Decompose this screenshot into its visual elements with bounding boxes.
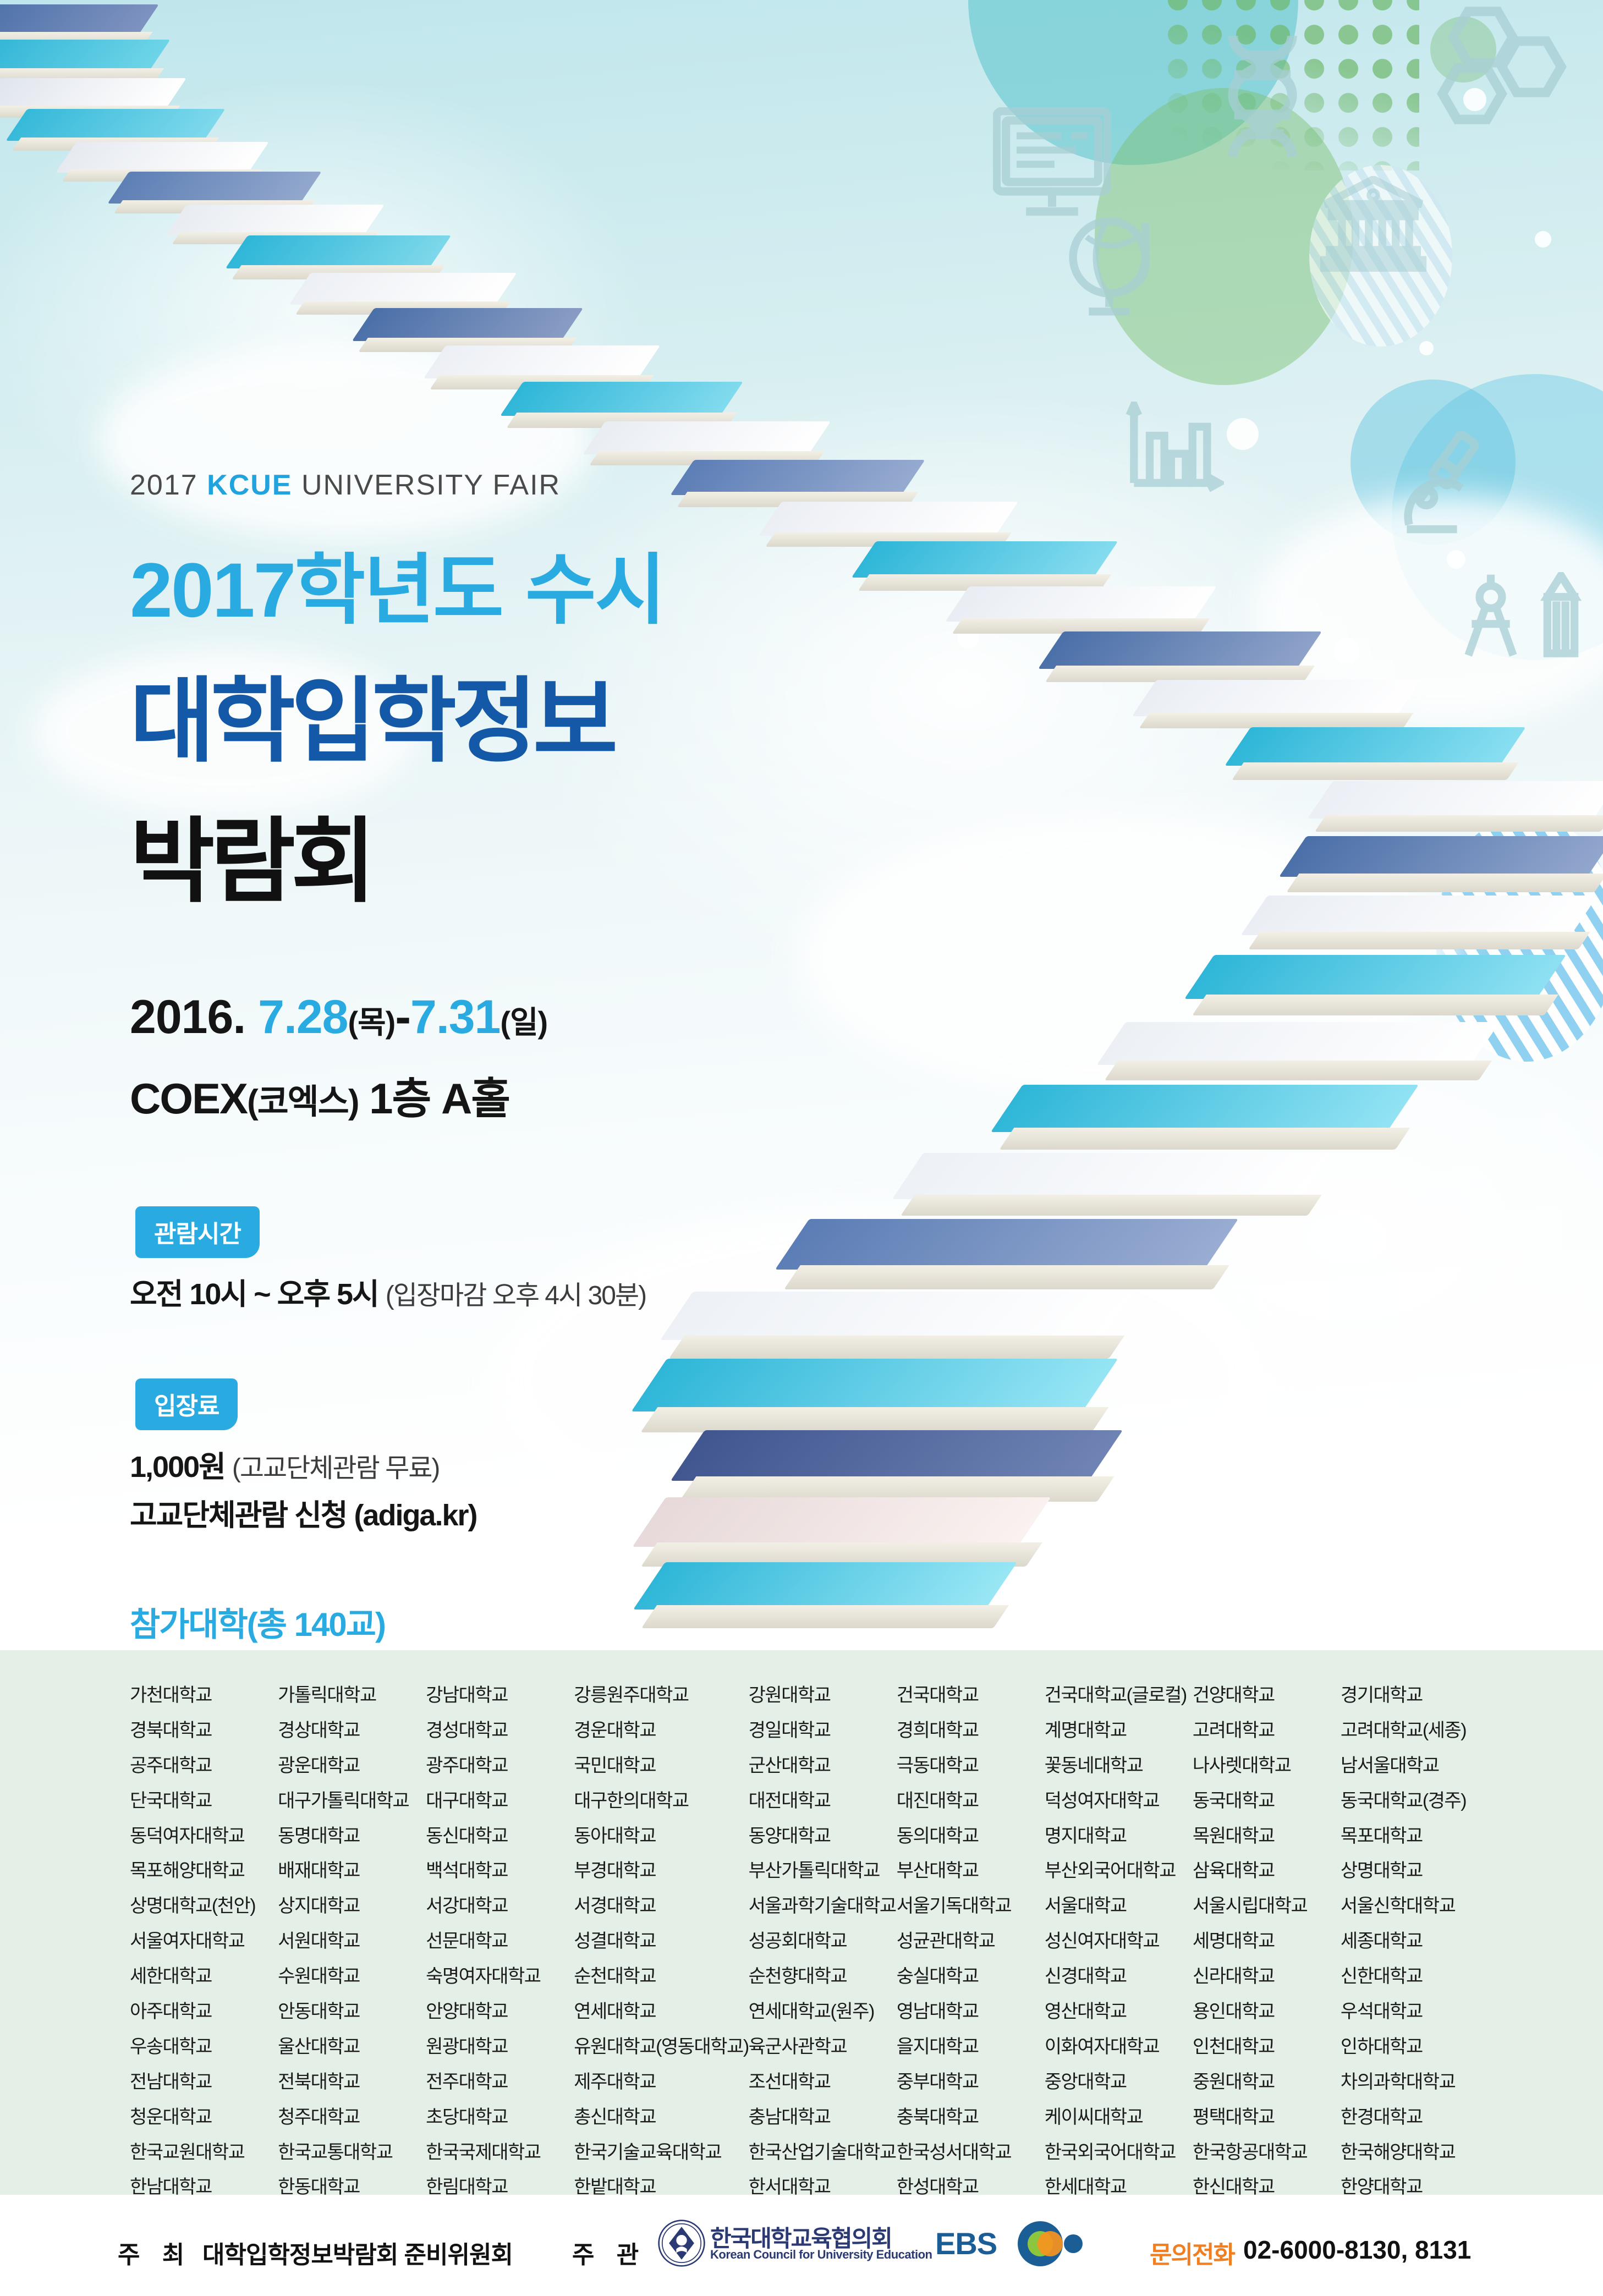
book-step <box>176 205 374 235</box>
university-name: 나사렛대학교 <box>1193 1754 1341 1779</box>
bubble-dot <box>1227 418 1259 450</box>
university-name: 광운대학교 <box>278 1754 426 1779</box>
university-name: 한국국제대학교 <box>426 2140 574 2166</box>
book-step <box>1051 631 1309 669</box>
university-name: 한국교원대학교 <box>130 2140 278 2166</box>
title-line-2: 대학입학정보 <box>130 646 613 780</box>
university-name: 인하대학교 <box>1341 2035 1489 2060</box>
university-name: 세명대학교 <box>1193 1929 1341 1954</box>
university-name: 서경대학교 <box>574 1894 748 1919</box>
ebs-circle-dot <box>1064 2234 1083 2253</box>
hours-badge: 관람시간 <box>135 1206 260 1258</box>
university-name: 제주대학교 <box>574 2070 748 2095</box>
university-name: 건국대학교 <box>897 1683 1045 1709</box>
book-step <box>594 421 820 454</box>
book-step <box>66 142 259 173</box>
book-step <box>1144 680 1408 716</box>
university-name: 중부대학교 <box>897 2070 1045 2095</box>
university-name: 우석대학교 <box>1341 2000 1489 2025</box>
university-name: 명지대학교 <box>1045 1824 1193 1849</box>
dna-icon <box>1207 33 1317 160</box>
hours-main: 오전 10시 ~ 오후 5시 <box>130 1278 378 1311</box>
university-name: 성결대학교 <box>574 1929 748 1954</box>
university-name: 원광대학교 <box>426 2035 574 2060</box>
book-step <box>435 345 649 378</box>
university-name: 안동대학교 <box>278 2000 426 2025</box>
book-step <box>957 586 1205 622</box>
university-name: 연세대학교(원주) <box>749 2000 897 2025</box>
university-name: 세종대학교 <box>1341 1929 1489 1954</box>
title-susi: 수시 <box>525 547 665 633</box>
venue-name: COEX <box>130 1074 247 1123</box>
university-name: 경기대학교 <box>1341 1683 1489 1709</box>
university-name: 동아대학교 <box>574 1824 748 1849</box>
university-name: 서울기독대학교 <box>897 1894 1045 1919</box>
date-start-day: (목) <box>348 1005 396 1040</box>
globe-icon <box>1062 212 1163 316</box>
university-name: 단국대학교 <box>130 1789 278 1814</box>
book-step <box>649 1359 1100 1411</box>
university-name: 한국항공대학교 <box>1193 2140 1341 2166</box>
book-step <box>770 502 1007 536</box>
fee-main: 1,000원 <box>130 1451 225 1484</box>
university-name: 신한대학교 <box>1341 1964 1489 1990</box>
university-name: 덕성여자대학교 <box>1045 1789 1193 1814</box>
eyebrow-tagline: 2017 KCUE UNIVERSITY FAIR <box>130 469 561 502</box>
date-dash: - <box>395 991 410 1043</box>
university-name: 한국성서대학교 <box>897 2140 1045 2166</box>
university-name: 한국외국어대학교 <box>1045 2140 1193 2166</box>
university-name: 숙명여자대학교 <box>426 1964 574 1990</box>
ebs-circle-orange <box>1037 2231 1063 2256</box>
date-start: 7.28 <box>258 991 348 1043</box>
university-name: 고려대학교(세종) <box>1341 1718 1489 1744</box>
book-step <box>1320 781 1603 819</box>
university-name: 동의대학교 <box>897 1824 1045 1849</box>
university-name: 세한대학교 <box>130 1964 278 1990</box>
university-name: 영산대학교 <box>1045 2000 1193 2025</box>
university-name: 공주대학교 <box>130 1754 278 1779</box>
eyebrow-year: 2017 <box>130 469 198 501</box>
university-name: 을지대학교 <box>897 2035 1045 2060</box>
university-name: 총신대학교 <box>574 2105 748 2130</box>
kcue-emblem-icon <box>657 2219 706 2267</box>
book-step <box>649 1562 1001 1610</box>
university-name: 선문대학교 <box>426 1929 574 1954</box>
university-name: 광주대학교 <box>426 1754 574 1779</box>
university-name: 숭실대학교 <box>897 1964 1045 1990</box>
university-name: 순천대학교 <box>574 1964 748 1990</box>
university-name: 인천대학교 <box>1193 2035 1341 2060</box>
university-name: 경일대학교 <box>749 1718 897 1744</box>
university-name: 청주대학교 <box>278 2105 426 2130</box>
university-name: 우송대학교 <box>130 2035 278 2060</box>
fee-value: 1,000원 (고교단체관람 무료) <box>130 1442 439 1486</box>
university-name: 초당대학교 <box>426 2105 574 2130</box>
university-name: 영남대학교 <box>897 2000 1045 2025</box>
eyebrow-rest: UNIVERSITY FAIR <box>301 469 561 501</box>
bank-icon <box>1320 176 1428 272</box>
university-name: 꽃동네대학교 <box>1045 1754 1193 1779</box>
university-name: 연세대학교 <box>574 2000 748 2025</box>
book-step <box>17 109 215 141</box>
university-name: 목원대학교 <box>1193 1824 1341 1849</box>
molecule-icon <box>1428 0 1576 143</box>
university-name: 삼육대학교 <box>1193 1859 1341 1884</box>
university-name: 부경대학교 <box>574 1859 748 1884</box>
host-label: 주 최 <box>118 2235 192 2270</box>
university-name: 남서울대학교 <box>1341 1754 1489 1779</box>
university-name: 서원대학교 <box>278 1929 426 1954</box>
university-name: 부산외국어대학교 <box>1045 1859 1193 1884</box>
university-name: 대진대학교 <box>897 1789 1045 1814</box>
book-step <box>1254 896 1584 935</box>
title-line-1: 2017학년도수시 <box>130 528 665 639</box>
bubble-dot <box>1419 341 1434 355</box>
book-step <box>0 40 160 72</box>
compass-icon <box>1461 572 1521 660</box>
university-name: 대구한의대학교 <box>574 1789 748 1814</box>
university-name: 경희대학교 <box>897 1718 1045 1744</box>
university-name: 신경대학교 <box>1045 1964 1193 1990</box>
organizer-label: 주 관 <box>572 2235 646 2270</box>
book-step <box>677 1292 1117 1340</box>
book-step <box>300 273 506 305</box>
book-step <box>0 4 149 35</box>
university-name: 차의과학대학교 <box>1341 2070 1489 2095</box>
university-name: 한국산업기술대학교 <box>749 2140 897 2166</box>
university-name: 동양대학교 <box>749 1824 897 1849</box>
book-step <box>118 172 311 204</box>
book-step <box>1238 727 1513 766</box>
bubble-dot <box>1535 231 1551 248</box>
university-name: 아주대학교 <box>130 2000 278 2025</box>
university-name: 동신대학교 <box>426 1824 574 1849</box>
university-name: 성공회대학교 <box>749 1929 897 1954</box>
book-step <box>512 382 732 416</box>
university-name: 부산가톨릭대학교 <box>749 1859 897 1884</box>
kcue-name-en: Korean Council for University Education <box>710 2248 932 2262</box>
university-name: 경북대학교 <box>130 1718 278 1744</box>
university-name: 한국기술교육대학교 <box>574 2140 748 2166</box>
eyebrow-brand: KCUE <box>207 469 292 501</box>
book-step <box>1293 836 1601 877</box>
book-step <box>237 235 440 268</box>
university-name: 안양대학교 <box>426 2000 574 2025</box>
hours-value: 오전 10시 ~ 오후 5시 (입장마감 오후 4시 30분) <box>130 1270 646 1313</box>
university-name: 충북대학교 <box>897 2105 1045 2130</box>
university-name: 계명대학교 <box>1045 1718 1193 1744</box>
title-schoolyear: 학년도 <box>294 547 502 633</box>
university-name: 상명대학교(천안) <box>130 1894 278 1919</box>
university-name: 동명대학교 <box>278 1824 426 1849</box>
university-name: 중원대학교 <box>1193 2070 1341 2095</box>
university-name: 경성대학교 <box>426 1718 574 1744</box>
university-name: 수원대학교 <box>278 1964 426 1990</box>
university-name: 동덕여자대학교 <box>130 1824 278 1849</box>
university-name: 군산대학교 <box>749 1754 897 1779</box>
universities-panel: 가천대학교가톨릭대학교강남대학교강릉원주대학교강원대학교건국대학교건국대학교(글… <box>0 1650 1603 2195</box>
fee-note: (고교단체관람 무료) <box>232 1454 440 1483</box>
book-step <box>363 308 572 341</box>
date-year: 2016. <box>130 991 245 1043</box>
university-name: 육군사관학교 <box>749 2035 897 2060</box>
fee-badge: 입장료 <box>135 1378 238 1430</box>
university-name: 목포해양대학교 <box>130 1859 278 1884</box>
university-name: 상명대학교 <box>1341 1859 1489 1884</box>
venue-hall: 1층 A홀 <box>369 1074 509 1123</box>
university-name: 서울여자대학교 <box>130 1929 278 1954</box>
contact-number: 02-6000-8130, 8131 <box>1243 2235 1471 2265</box>
poster-root: 2017 KCUE UNIVERSITY FAIR 2017학년도수시 대학입학… <box>0 0 1603 2296</box>
university-name: 가톨릭대학교 <box>278 1683 426 1709</box>
book-step <box>908 1153 1315 1199</box>
microscope-icon <box>1386 426 1494 536</box>
university-name: 전주대학교 <box>426 2070 574 2095</box>
ebs-wordmark: EBS <box>935 2226 997 2261</box>
pencil-icon <box>1540 572 1582 660</box>
university-name: 동국대학교 <box>1193 1789 1341 1814</box>
kcue-logo: 한국대학교육협의회 Korean Council for University … <box>657 2218 888 2268</box>
university-name: 상지대학교 <box>278 1894 426 1919</box>
university-name: 고려대학교 <box>1193 1718 1341 1744</box>
university-name: 조선대학교 <box>749 2070 897 2095</box>
title-line-3: 박람회 <box>130 787 372 920</box>
university-name: 대구대학교 <box>426 1789 574 1814</box>
bar-chart-icon <box>1125 402 1224 492</box>
book-step <box>688 1430 1106 1481</box>
university-name: 대구가톨릭대학교 <box>278 1789 426 1814</box>
university-name: 유원대학교(영동대학교) <box>574 2035 748 2060</box>
university-name: 충남대학교 <box>749 2105 897 2130</box>
book-step <box>864 541 1106 578</box>
participating-universities-heading: 참가대학(총 140교) <box>130 1598 385 1646</box>
university-name: 서강대학교 <box>426 1894 574 1919</box>
university-name: 순천향대학교 <box>749 1964 897 1990</box>
university-name: 이화여자대학교 <box>1045 2035 1193 2060</box>
university-name: 용인대학교 <box>1193 2000 1341 2025</box>
university-name: 부산대학교 <box>897 1859 1045 1884</box>
university-name: 목포대학교 <box>1341 1824 1489 1849</box>
university-name: 한경대학교 <box>1341 2105 1489 2130</box>
university-name: 배재대학교 <box>278 1859 426 1884</box>
university-name: 경운대학교 <box>574 1718 748 1744</box>
book-step <box>1007 1085 1403 1132</box>
event-venue: COEX(코엑스) 1층 A홀 <box>130 1064 509 1126</box>
university-name: 전남대학교 <box>130 2070 278 2095</box>
hours-note: (입장마감 오후 4시 30분) <box>386 1281 646 1310</box>
fee-group-apply: 고교단체관람 신청 (adiga.kr) <box>130 1491 477 1534</box>
date-end-day: (일) <box>500 1005 547 1040</box>
host-name: 대학입학정보박람회 준비위원회 <box>202 2235 513 2270</box>
university-name: 극동대학교 <box>897 1754 1045 1779</box>
university-name: 서울과학기술대학교 <box>749 1894 897 1919</box>
book-step <box>1111 1022 1485 1065</box>
contact-label: 문의전화 <box>1150 2235 1234 2270</box>
university-name: 성균관대학교 <box>897 1929 1045 1954</box>
university-name: 청운대학교 <box>130 2105 278 2130</box>
book-step <box>682 460 913 495</box>
book-step <box>0 78 176 109</box>
title-year: 2017 <box>130 547 294 633</box>
university-name: 성신여자대학교 <box>1045 1929 1193 1954</box>
university-name: 국민대학교 <box>574 1754 748 1779</box>
date-end: 7.31 <box>410 991 500 1043</box>
book-step <box>649 1497 1034 1547</box>
university-name: 서울대학교 <box>1045 1894 1193 1919</box>
bubble-dot <box>1334 638 1359 663</box>
ebs-logo: EBS <box>935 2218 1078 2268</box>
university-name: 서울시립대학교 <box>1193 1894 1341 1919</box>
university-name: 신라대학교 <box>1193 1964 1341 1990</box>
book-step <box>1199 955 1551 999</box>
bubble-dot <box>1447 550 1465 569</box>
university-name: 한국교통대학교 <box>278 2140 426 2166</box>
university-name: 평택대학교 <box>1193 2105 1341 2130</box>
monitor-icon <box>993 107 1111 220</box>
university-name: 백석대학교 <box>426 1859 574 1884</box>
university-name: 건양대학교 <box>1193 1683 1341 1709</box>
venue-name-kr: (코엑스) <box>247 1083 358 1121</box>
university-name: 서울신학대학교 <box>1341 1894 1489 1919</box>
university-name: 동국대학교(경주) <box>1341 1789 1489 1814</box>
university-name: 대전대학교 <box>749 1789 897 1814</box>
university-name: 전북대학교 <box>278 2070 426 2095</box>
university-name: 경상대학교 <box>278 1718 426 1744</box>
university-name: 중앙대학교 <box>1045 2070 1193 2095</box>
university-name: 한국해양대학교 <box>1341 2140 1489 2166</box>
event-date: 2016. 7.28(목)-7.31(일) <box>130 990 547 1045</box>
university-name: 울산대학교 <box>278 2035 426 2060</box>
university-name: 케이씨대학교 <box>1045 2105 1193 2130</box>
university-name: 건국대학교(글로컬) <box>1045 1683 1193 1709</box>
university-name: 강원대학교 <box>749 1683 897 1709</box>
university-name: 강남대학교 <box>426 1683 574 1709</box>
book-step <box>792 1219 1221 1270</box>
university-name: 강릉원주대학교 <box>574 1683 748 1709</box>
university-name: 가천대학교 <box>130 1683 278 1709</box>
universities-grid: 가천대학교가톨릭대학교강남대학교강릉원주대학교강원대학교건국대학교건국대학교(글… <box>130 1683 1489 2235</box>
